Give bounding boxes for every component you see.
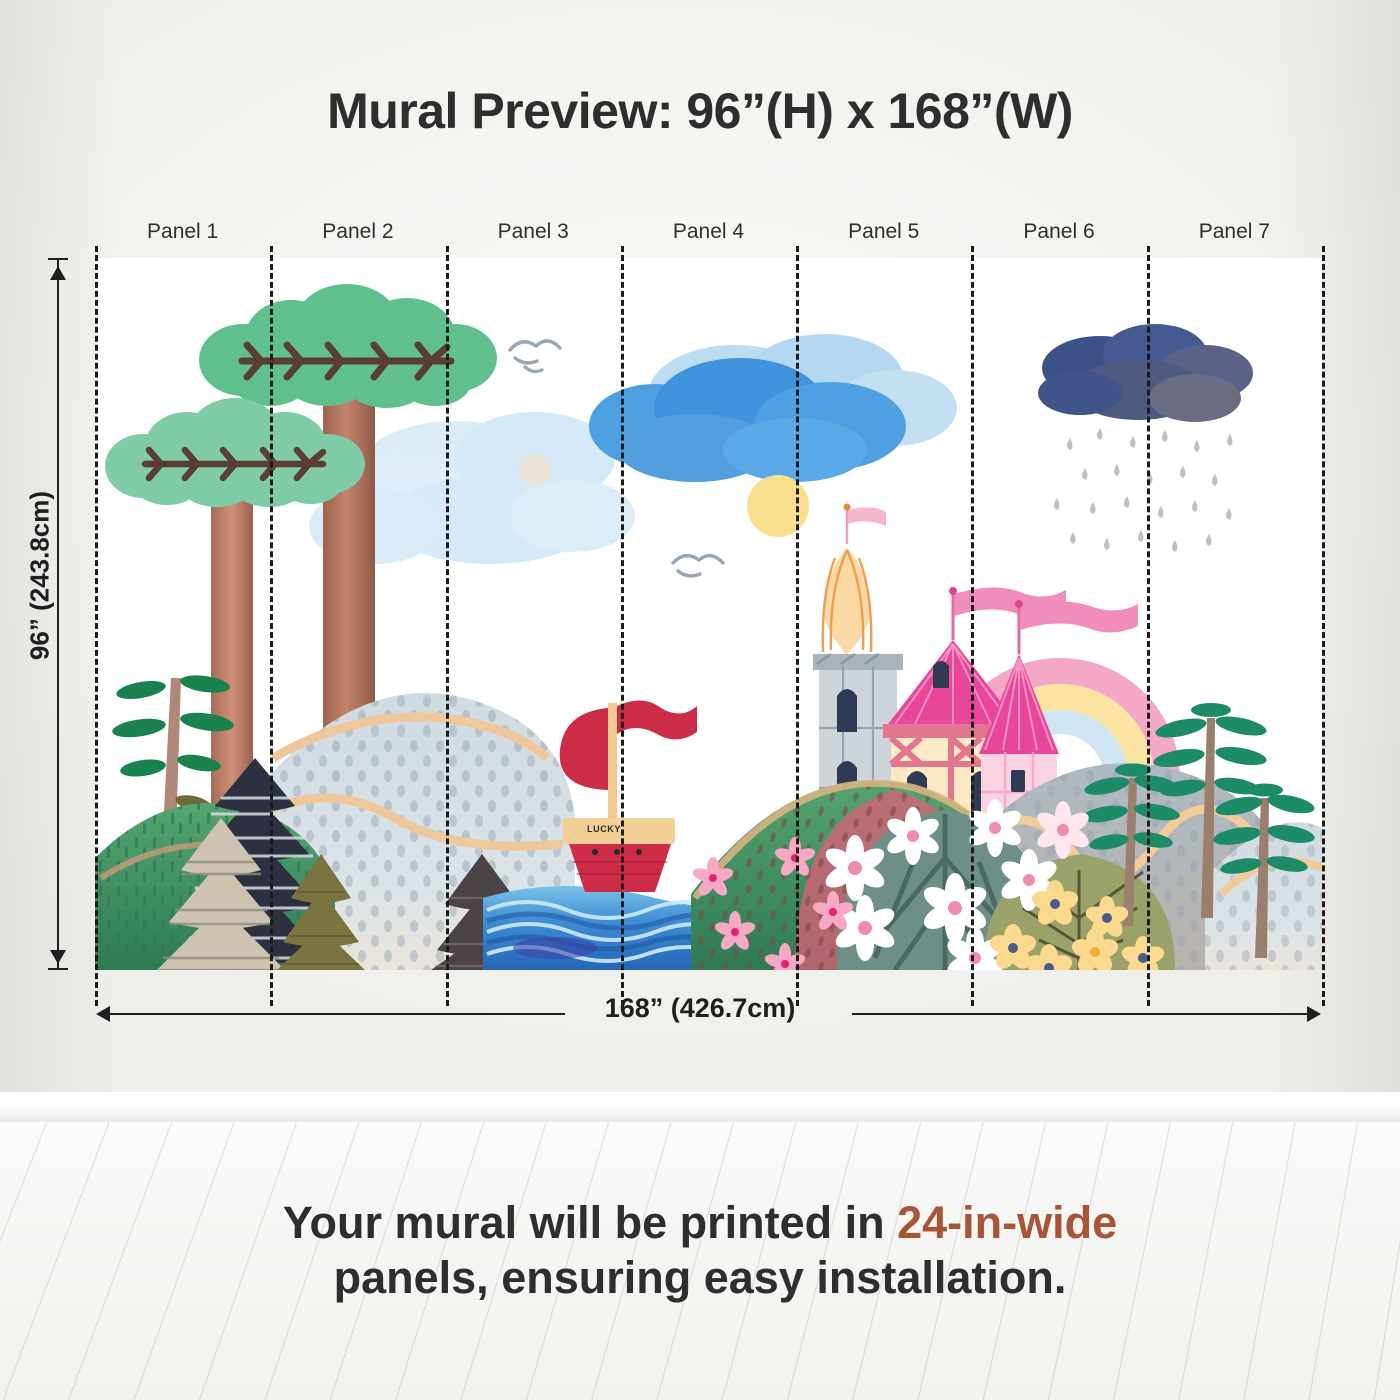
rain-drops <box>1054 428 1233 552</box>
boat-hull <box>569 844 671 892</box>
caption-highlight: 24-in-wide <box>897 1197 1117 1248</box>
panel-label-4: Panel 4 <box>621 216 796 248</box>
panel-label-1: Panel 1 <box>95 216 270 248</box>
boat-name-label: LUCKY <box>587 824 621 834</box>
height-dimension-label: 96” (243.8cm) <box>25 406 56 746</box>
baseboard-trim <box>0 1092 1400 1122</box>
caption-line-2: panels, ensuring easy installation. <box>0 1251 1400 1306</box>
cloud-blue-main <box>589 334 957 482</box>
print-caption: Your mural will be printed in 24-in-wide… <box>0 1196 1400 1306</box>
bird-1 <box>510 341 560 371</box>
panel-label-3: Panel 3 <box>446 216 621 248</box>
boat-flag <box>617 700 697 739</box>
caption-line1-text: Your mural will be printed in <box>283 1197 897 1248</box>
mural-preview-page: Mural Preview: 96”(H) x 168”(W) Panel 1 … <box>0 0 1400 1400</box>
page-title: Mural Preview: 96”(H) x 168”(W) <box>0 82 1400 140</box>
height-arrow-up <box>50 266 66 280</box>
width-dimension-label: 168” (426.7cm) <box>0 993 1400 1024</box>
rain-cloud <box>1038 324 1253 422</box>
boat-sail <box>560 708 608 790</box>
panel-label-7: Panel 7 <box>1147 216 1322 248</box>
mural-artwork: LUCKY <box>95 258 1322 970</box>
mural-illustration <box>95 258 1322 970</box>
castle-onion-dome <box>823 504 886 655</box>
panel-label-row: Panel 1 Panel 2 Panel 3 Panel 4 Panel 5 … <box>95 216 1322 248</box>
height-arrow-down <box>50 950 66 964</box>
height-cap-top <box>48 258 68 260</box>
water-fish <box>513 937 597 959</box>
sun-circle <box>747 475 809 537</box>
panel-label-2: Panel 2 <box>270 216 445 248</box>
sailboat <box>560 700 697 892</box>
panel-label-5: Panel 5 <box>796 216 971 248</box>
height-cap-bottom <box>48 968 68 970</box>
mural-preview-area[interactable]: LUCKY <box>95 258 1322 970</box>
height-dimension-line <box>57 258 59 970</box>
caption-line-1: Your mural will be printed in 24-in-wide <box>0 1196 1400 1251</box>
bird-2 <box>673 556 723 576</box>
panel-label-6: Panel 6 <box>971 216 1146 248</box>
